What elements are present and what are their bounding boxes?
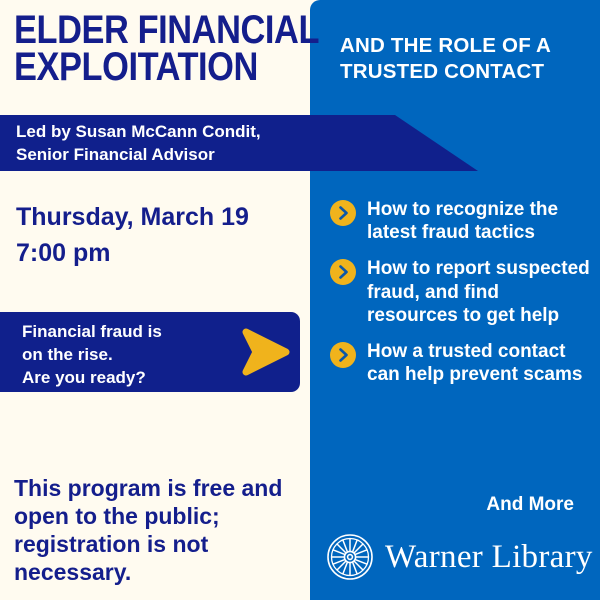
and-more-label: And More	[340, 494, 574, 516]
title-line-1: Elder Financial	[14, 12, 263, 49]
list-item: How to report suspected fraud, and find …	[330, 257, 592, 327]
event-datetime: Thursday, March 19 7:00 pm	[16, 199, 296, 272]
chevron-right-circle-icon	[330, 200, 356, 226]
panel-subtitle: And the role of a Trusted Contact	[340, 33, 590, 85]
callout-line-2: on the rise.	[22, 343, 232, 366]
page-title: Elder Financial Exploitation	[14, 12, 263, 86]
fraud-callout-text: Financial fraud is on the rise. Are you …	[22, 320, 232, 389]
list-item-label: How a trusted contact can help prevent s…	[367, 340, 592, 386]
chevron-right-circle-icon	[330, 259, 356, 285]
panel-subtitle-line-2: Trusted Contact	[340, 59, 590, 85]
list-item-label: How to report suspected fraud, and find …	[367, 257, 592, 327]
title-line-2: Exploitation	[14, 49, 263, 86]
presenter-line-2: Senior Financial Advisor	[16, 144, 346, 167]
list-item-label: How to recognize the latest fraud tactic…	[367, 198, 592, 244]
chevron-right-circle-icon	[330, 342, 356, 368]
library-name: Warner Library	[385, 541, 593, 574]
event-date: Thursday, March 19	[16, 199, 296, 235]
topics-list: How to recognize the latest fraud tactic…	[330, 198, 592, 399]
callout-line-1: Financial fraud is	[22, 320, 232, 343]
registration-note: This program is free and open to the pub…	[14, 474, 306, 586]
list-item: How a trusted contact can help prevent s…	[330, 340, 592, 386]
event-flyer: Elder Financial Exploitation And the rol…	[0, 0, 600, 600]
chevron-right-icon	[240, 327, 292, 377]
panel-subtitle-line-1: And the role of a	[340, 33, 590, 59]
library-logo: Warner Library	[326, 533, 593, 581]
presenter-line-1: Led by Susan McCann Condit,	[16, 121, 346, 144]
presenter-ribbon-text: Led by Susan McCann Condit, Senior Finan…	[16, 121, 346, 166]
library-wheel-emblem-icon	[326, 533, 374, 581]
event-time: 7:00 pm	[16, 235, 296, 271]
list-item: How to recognize the latest fraud tactic…	[330, 198, 592, 244]
callout-line-3: Are you ready?	[22, 366, 232, 389]
